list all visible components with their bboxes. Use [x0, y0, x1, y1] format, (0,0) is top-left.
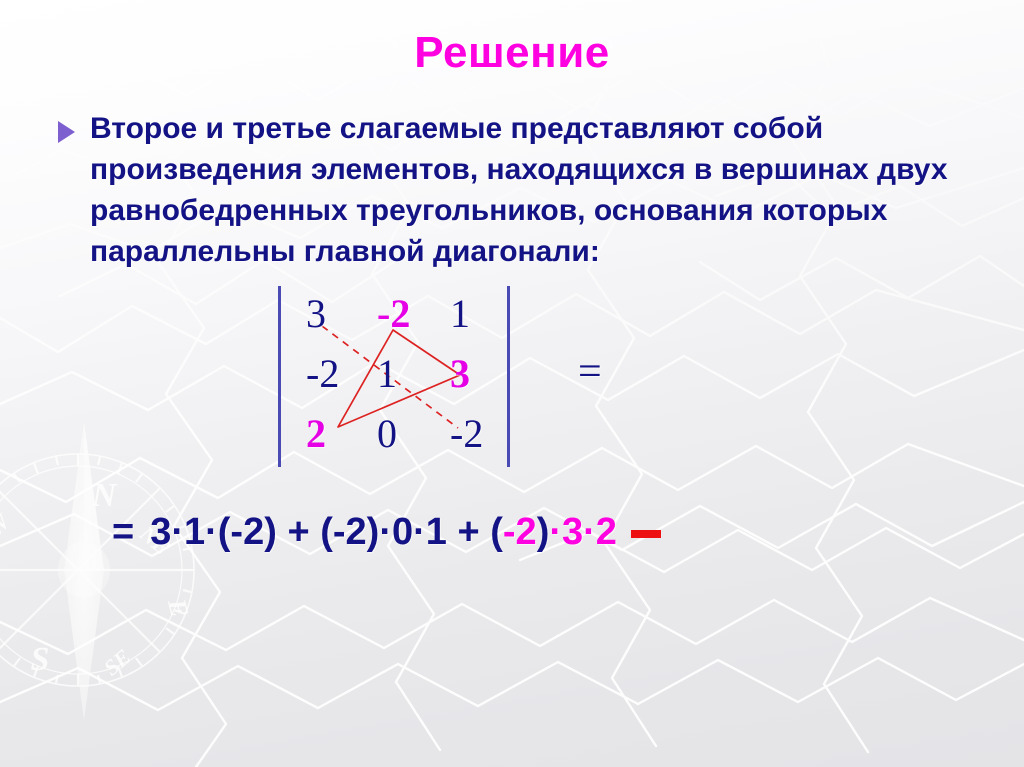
matrix-cell-r3c2: 0: [377, 414, 397, 454]
expansion-plus-1: +: [287, 511, 309, 553]
solid-triangle: [338, 330, 460, 427]
expansion-formula: =3·1·(-2) + (-2)·0·1 + (-2)·3·2: [112, 508, 661, 556]
matrix-cell-r2c1: -2: [306, 354, 339, 394]
expansion-term-3-dot-2: ·: [583, 511, 596, 553]
matrix-cell-r3c1: 2: [306, 414, 326, 454]
body-paragraph-text: Второе и третье слагаемые представляют с…: [90, 108, 958, 272]
expansion-term-3-factor-a: -2: [503, 511, 537, 553]
compass-rose-watermark: N NE E SE S NW: [0, 422, 194, 720]
determinant-figure: 3 -2 1 -2 1 3 2 0 -2: [262, 282, 542, 474]
matrix-cell-r1c3: 1: [450, 294, 470, 334]
compass-label-s: S: [31, 641, 50, 678]
slide-canvas: N NE E SE S NW Решение Второе и третье с…: [0, 0, 1024, 767]
expansion-term-3-factor-b: 3: [562, 511, 583, 553]
bullet-paragraph: Второе и третье слагаемые представляют с…: [58, 108, 958, 272]
expansion-term-3-close-paren: ): [537, 511, 550, 553]
expansion-term-3-open-paren: (: [490, 511, 503, 553]
matrix-cell-r1c2: -2: [377, 294, 410, 334]
expansion-plus-2: +: [457, 511, 479, 553]
expansion-trailing-minus: [631, 530, 661, 538]
matrix-cell-r1c1: 3: [306, 294, 326, 334]
expansion-term-3-factor-c: 2: [596, 511, 617, 553]
triangle-bullet-icon: [58, 121, 75, 143]
matrix-cell-r2c2: 1: [377, 354, 397, 394]
expansion-equals-sign: =: [112, 511, 134, 553]
matrix-cell-r3c3: -2: [450, 414, 483, 454]
expansion-term-1: 3·1·(-2): [150, 511, 277, 553]
compass-label-e: E: [162, 595, 195, 620]
compass-label-se: SE: [99, 644, 136, 680]
expansion-term-2: (-2)·0·1: [320, 511, 447, 553]
determinant-equals-sign: =: [578, 348, 602, 396]
matrix-cell-r2c3: 3: [450, 354, 470, 394]
page-title: Решение: [0, 28, 1024, 78]
expansion-term-3-dot-1: ·: [549, 511, 562, 553]
compass-label-nw: NW: [0, 508, 15, 552]
